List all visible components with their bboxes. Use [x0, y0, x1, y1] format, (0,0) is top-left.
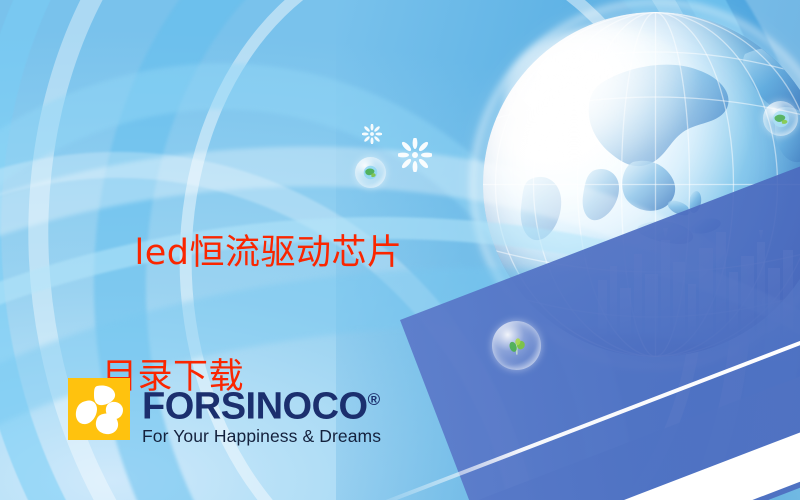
page-title-line-1: led恒流驱动芯片 — [135, 233, 403, 273]
page-title: led恒流驱动芯片 目录下载 — [88, 160, 403, 500]
brand-wordmark: FORSINOCO® — [142, 380, 381, 427]
bubble-globe-icon-right — [763, 101, 798, 136]
brand-logo[interactable]: FORSINOCO® For Your Happiness & Dreams — [68, 378, 381, 447]
sparkle-flower-icon-small — [362, 124, 382, 149]
four-petal-flower-icon — [68, 378, 130, 440]
registered-trademark-icon: ® — [368, 390, 380, 409]
sparkle-flower-icon — [398, 138, 432, 177]
brand-tagline: For Your Happiness & Dreams — [142, 426, 381, 447]
banner-canvas: led恒流驱动芯片 目录下载 FORSINOCO® For Your Happi… — [0, 0, 800, 500]
globe-highlight — [504, 26, 704, 171]
brand-logo-text: FORSINOCO® For Your Happiness & Dreams — [142, 380, 381, 447]
brand-wordmark-text: FORSINOCO — [142, 386, 368, 428]
bubble-sprout-icon — [492, 321, 541, 370]
